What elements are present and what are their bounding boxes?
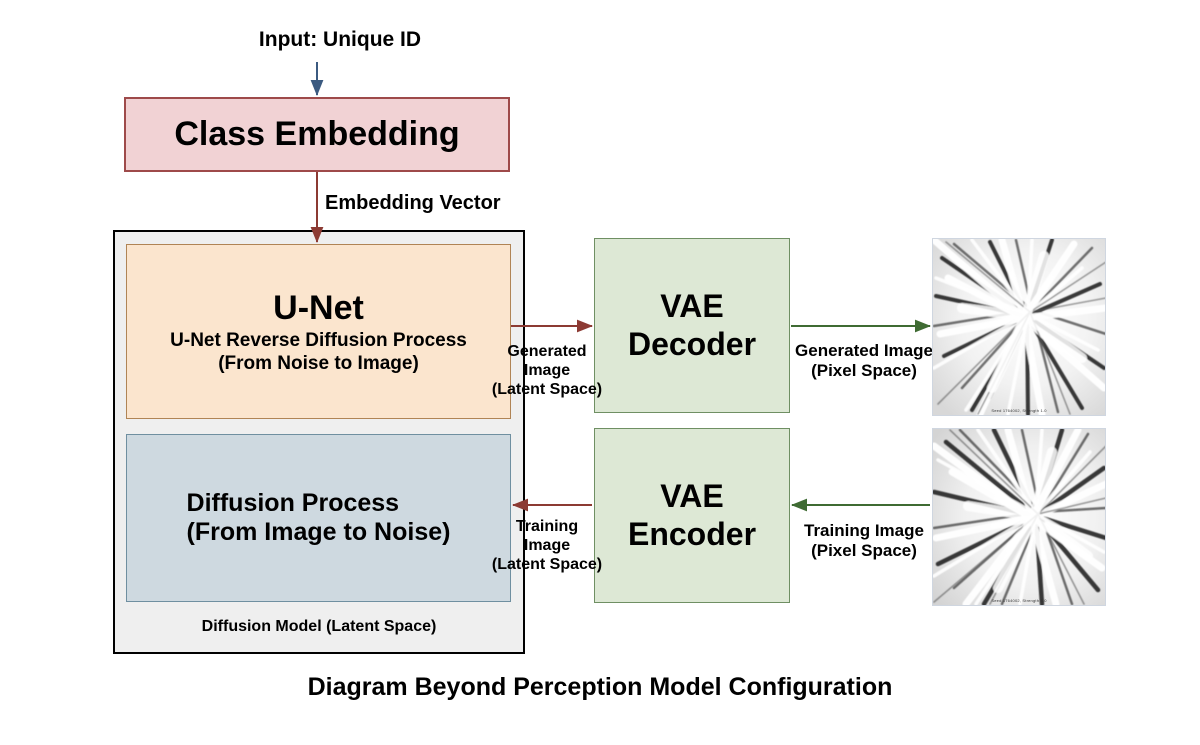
vae-encoder-node[interactable]: VAE Encoder	[594, 428, 790, 603]
training-image-thumbnail[interactable]: Seed 1764002, Strength 1.0	[932, 428, 1106, 606]
diffusion-model-container-label: Diffusion Model (Latent Space)	[113, 618, 525, 637]
diagram-title: Diagram Beyond Perception Model Configur…	[0, 673, 1200, 703]
diagram-canvas: Input: Unique ID Class Embedding Embeddi…	[0, 0, 1200, 745]
class-embedding-node[interactable]: Class Embedding	[124, 97, 510, 172]
generated-image-pixel-label: Generated Image (Pixel Space)	[787, 341, 941, 381]
generated-image-thumbnail[interactable]: Seed 1764002, Strength 1.0	[932, 238, 1106, 416]
training-image-pixel-label: Training Image (Pixel Space)	[787, 521, 941, 561]
unet-subtitle-line1: U-Net Reverse Diffusion Process	[170, 330, 467, 352]
diffusion-process-line2: (From Image to Noise)	[187, 518, 451, 548]
input-label: Input: Unique ID	[180, 28, 500, 53]
vae-decoder-node[interactable]: VAE Decoder	[594, 238, 790, 413]
training-thumbnail-caption: Seed 1764002, Strength 1.0	[932, 598, 1106, 603]
embedding-vector-label: Embedding Vector	[325, 192, 585, 216]
unet-subtitle-line2: (From Noise to Image)	[218, 353, 419, 375]
vae-decoder-line1: VAE	[628, 288, 756, 326]
vae-encoder-line2: Encoder	[628, 516, 756, 554]
generated-image-latent-label: Generated Image (Latent Space)	[487, 343, 607, 400]
vae-decoder-line2: Decoder	[628, 326, 756, 364]
vae-encoder-line1: VAE	[628, 478, 756, 516]
diffusion-process-node[interactable]: Diffusion Process (From Image to Noise)	[126, 434, 511, 602]
training-image-latent-label: Training Image (Latent Space)	[487, 518, 607, 575]
class-embedding-label: Class Embedding	[174, 114, 459, 154]
unet-node[interactable]: U-Net U-Net Reverse Diffusion Process (F…	[126, 244, 511, 419]
diffusion-process-line1: Diffusion Process	[187, 489, 451, 519]
unet-title: U-Net	[273, 288, 364, 328]
generated-thumbnail-caption: Seed 1764002, Strength 1.0	[932, 408, 1106, 413]
